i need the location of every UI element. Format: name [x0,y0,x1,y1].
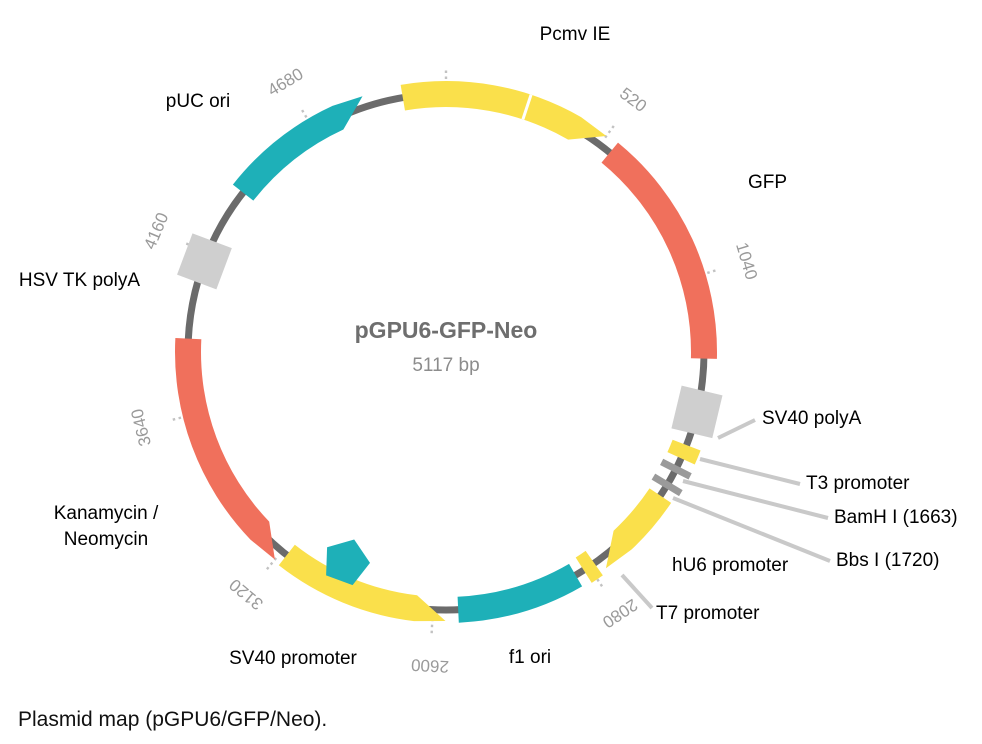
t3-leader [700,459,800,484]
tick-520: 520 [605,84,650,138]
feature-label-hu6-promoter: hU6 promoter [672,555,789,576]
tick-label: 2080 [599,595,641,632]
tick-label: 520 [616,84,650,116]
feature-layer [175,81,722,623]
feature-shape-f1-ori [458,564,583,623]
feature-hu6-promoter [606,488,671,568]
tick-3640: 3640 [127,407,186,448]
restriction-site-bbsi-site [652,474,683,496]
tick-label: 4680 [264,64,306,100]
plasmid-name: pGPU6-GFP-Neo [355,317,538,343]
feature-box-hsv-tk-polya [177,233,232,289]
tick-4680: 4680 [264,64,309,122]
feature-label-pcmv-ie: Pcmv IE [540,24,611,45]
plasmid-map-svg: 5201040208026003120364041604680 Pcmv IEG… [0,0,982,744]
feature-shape-kan-neo [175,338,275,560]
plasmid-size: 5117 bp [412,355,479,376]
tick-label: 4160 [140,210,172,252]
feature-shape-hu6-promoter [606,488,671,568]
feature-label-bbsi-site: Bbs I (1720) [836,550,940,571]
feature-shape-gfp [602,143,717,359]
feature-label-kan-neo: Kanamycin /Neomycin [54,503,159,550]
feature-label-gfp: GFP [748,172,787,193]
figure-caption: Plasmid map (pGPU6/GFP/Neo). [18,708,327,731]
bbsi-leader [673,498,830,561]
feature-label-sv40-polya: SV40 polyA [762,408,862,429]
tick-label: 1040 [732,240,761,282]
feature-label-t3-promoter: T3 promoter [806,473,910,494]
feature-f1-ori [458,564,583,623]
feature-pcmv-ie [401,81,607,140]
tick-label: 3120 [226,575,267,614]
feature-label-t7-promoter: T7 promoter [656,603,760,624]
sv40-polya-leader [718,420,755,438]
feature-label-hsv-tk-polya: HSV TK polyA [19,270,140,291]
tick-label: 3640 [127,407,155,448]
feature-gfp [602,143,717,359]
feature-kan-neo [175,338,275,560]
feature-label-sv40-promoter: SV40 promoter [229,648,357,669]
tick-2600: 2600 [411,619,450,676]
feature-sv40-polya [671,386,722,439]
feature-label-bamhi-site: BamH I (1663) [834,507,958,528]
tick-label: 2600 [411,655,450,676]
feature-puc-ori [233,96,363,200]
tick-2080: 2080 [594,574,641,632]
plasmid-map-figure: 5201040208026003120364041604680 Pcmv IEG… [0,0,982,744]
feature-shape-puc-ori [233,96,363,200]
tick-1040: 1040 [702,240,762,282]
tick-3120: 3120 [226,558,277,614]
tick-mark [265,558,276,571]
feature-label-layer: Pcmv IEGFPSV40 polyAT3 promoterBamH I (1… [19,24,958,669]
tick-mark [432,619,433,636]
feature-hsv-tk-polya [177,233,232,289]
feature-box-sv40-polya [671,386,722,439]
feature-label-puc-ori: pUC ori [166,91,230,112]
feature-label-f1-ori: f1 ori [509,647,551,668]
feature-bbsi-site [652,474,683,496]
tick-mark [605,124,615,138]
feature-shape-pcmv-ie [401,81,607,140]
